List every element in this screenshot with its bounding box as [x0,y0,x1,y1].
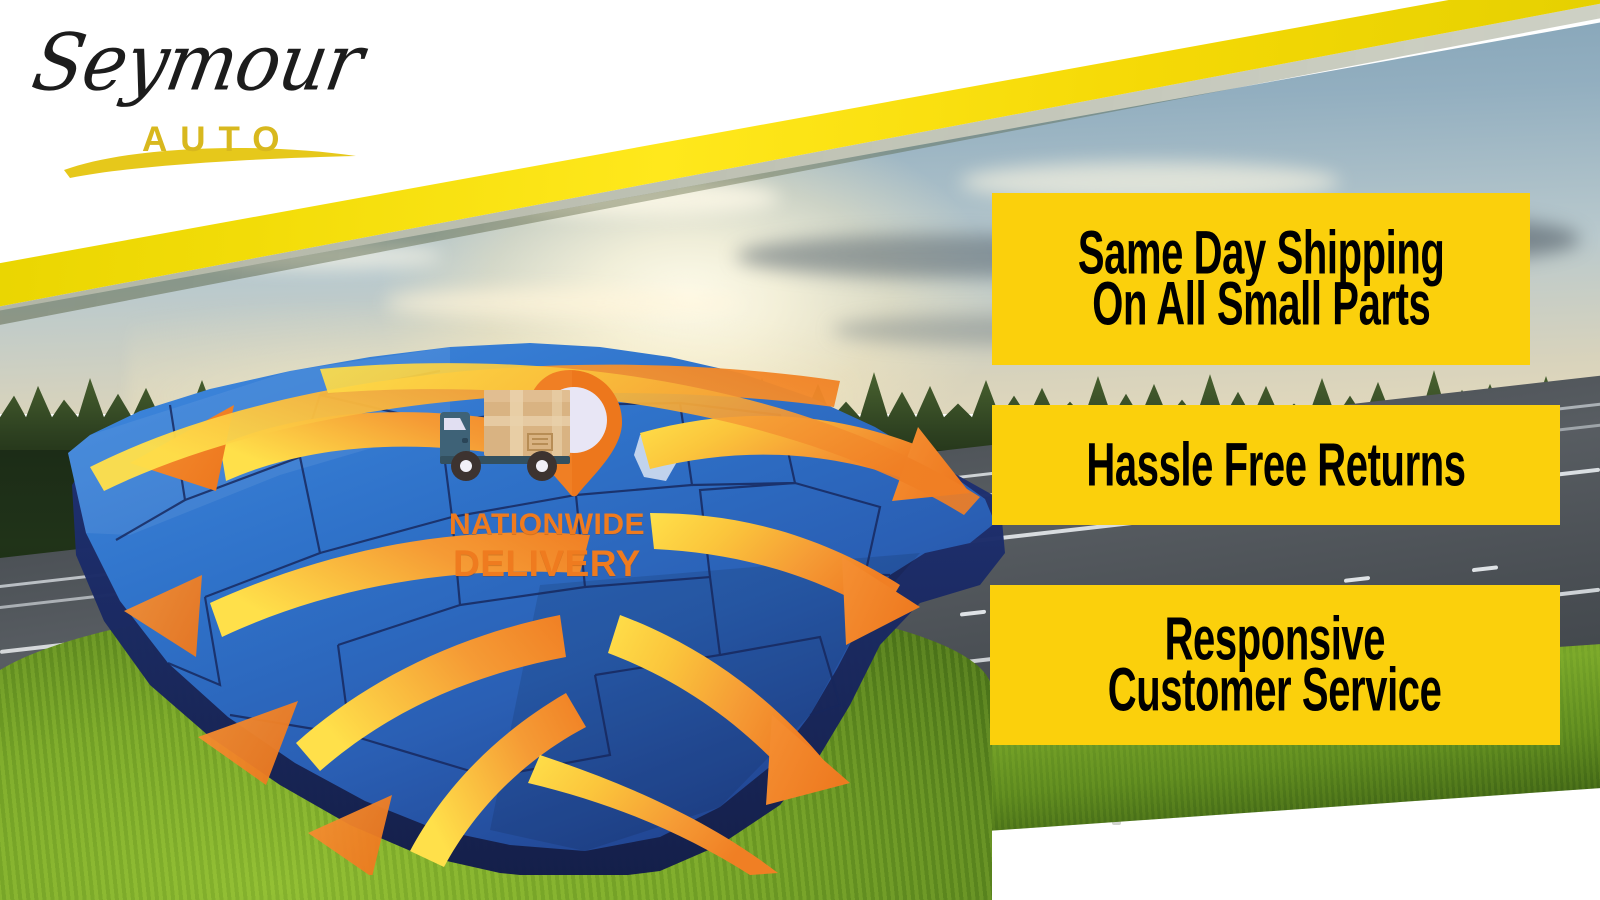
delivery-icons-group [432,368,662,508]
delivery-line2: DELIVERY [432,543,662,585]
promo-banner-stage: Seymour AUTO [0,0,1600,900]
brand-logo[interactable]: Seymour AUTO [30,18,350,168]
delivery-truck-icon [440,390,570,481]
nationwide-delivery-badge: NATIONWIDE DELIVERY [432,368,662,583]
feature-banner-responsive-customer-service[interactable]: Responsive Customer Service [990,585,1560,745]
feature-banner-same-day-shipping[interactable]: Same Day Shipping On All Small Parts [992,193,1530,365]
logo-script-text: Seymour [26,17,369,108]
banner-line: On All Small Parts [1092,273,1430,335]
logo-auto-text: AUTO [142,120,293,160]
delivery-line1: NATIONWIDE [432,508,662,542]
feature-banner-hassle-free-returns[interactable]: Hassle Free Returns [992,405,1560,525]
banner-line: Customer Service [1108,659,1442,721]
lane-dash [1472,565,1498,572]
banner-line: Hassle Free Returns [1086,434,1465,496]
lane-dash [1344,576,1370,583]
